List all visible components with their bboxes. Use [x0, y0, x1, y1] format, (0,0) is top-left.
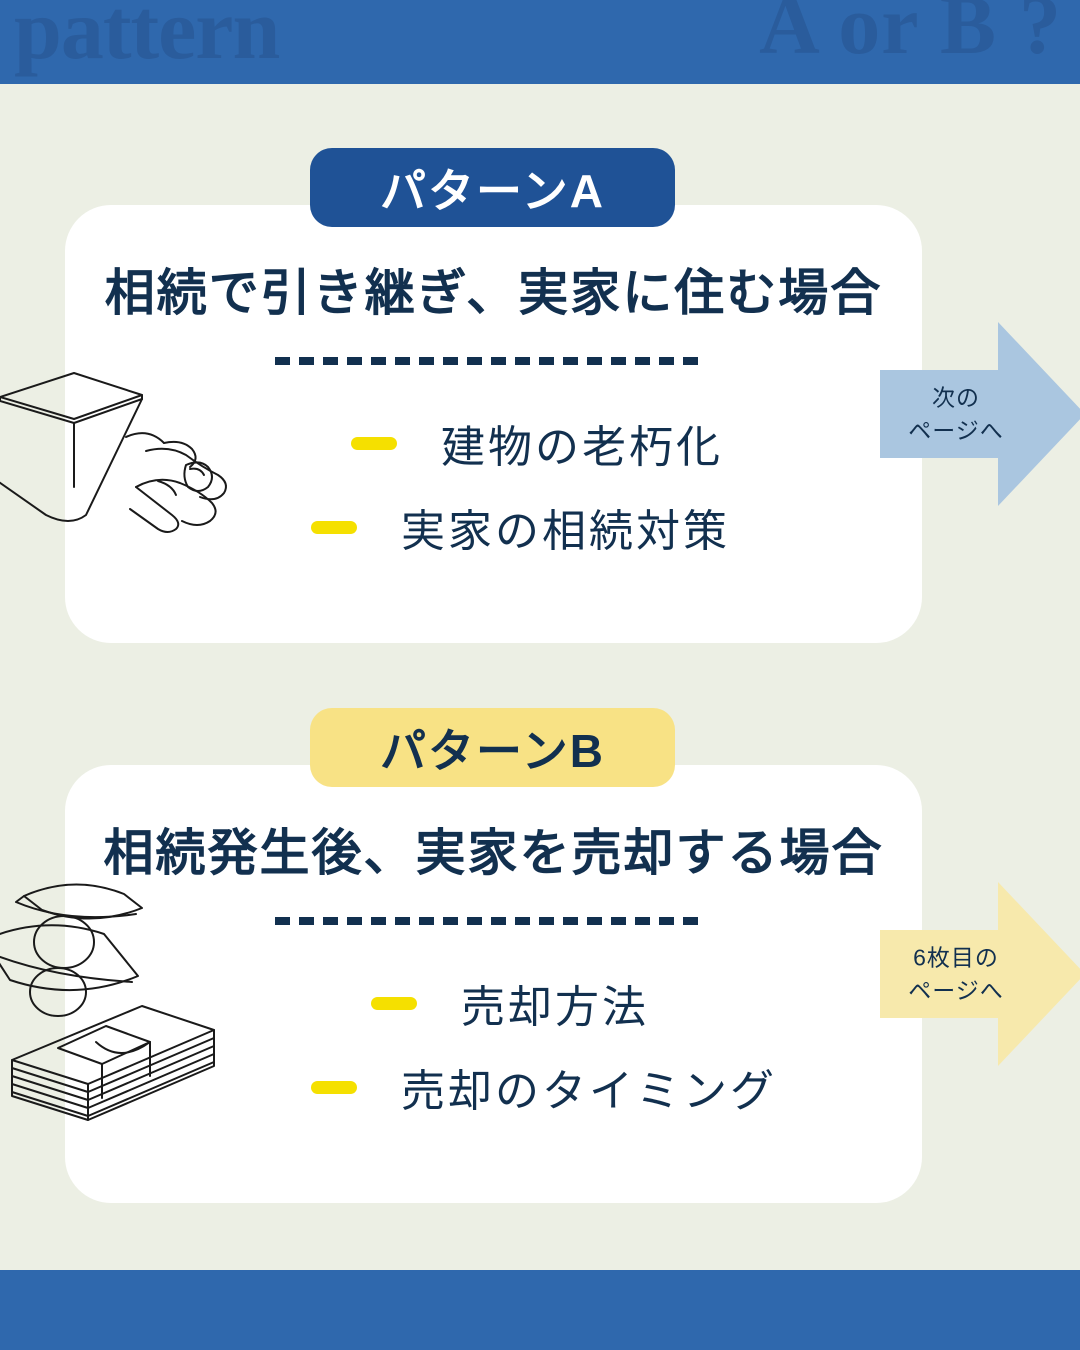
dash-marker-icon: [311, 521, 357, 534]
bottom-banner: [0, 1270, 1080, 1350]
pattern-a-bullet-0: 建物の老朽化: [441, 411, 723, 475]
pattern-b-badge: パターンB: [310, 708, 675, 787]
top-banner: pattern A or B ?: [0, 0, 1080, 84]
pattern-a-title: 相続で引き継ぎ、実家に住む場合: [65, 253, 922, 325]
pattern-b-bullet-0: 売却方法: [461, 971, 649, 1035]
pattern-b-divider: [275, 917, 705, 925]
pattern-a-badge: パターンA: [310, 148, 675, 227]
hand-holding-house-icon: [0, 355, 256, 570]
banner-right-word: A or B ?: [759, 0, 1062, 68]
cash-bundle-icon: [0, 880, 274, 1130]
next-page-arrow-b[interactable]: 6枚目の ページへ: [880, 872, 1080, 1077]
banner-left-word: pattern: [14, 0, 279, 72]
pattern-b-title: 相続発生後、実家を売却する場合: [65, 813, 922, 885]
next-page-arrow-a[interactable]: 次の ページへ: [880, 312, 1080, 517]
pattern-a-divider: [275, 357, 705, 365]
dash-marker-icon: [351, 437, 397, 450]
pattern-b-bullet-1: 売却のタイミング: [401, 1055, 777, 1119]
dash-marker-icon: [311, 1081, 357, 1094]
pattern-a-bullet-1: 実家の相続対策: [401, 495, 730, 559]
dash-marker-icon: [371, 997, 417, 1010]
